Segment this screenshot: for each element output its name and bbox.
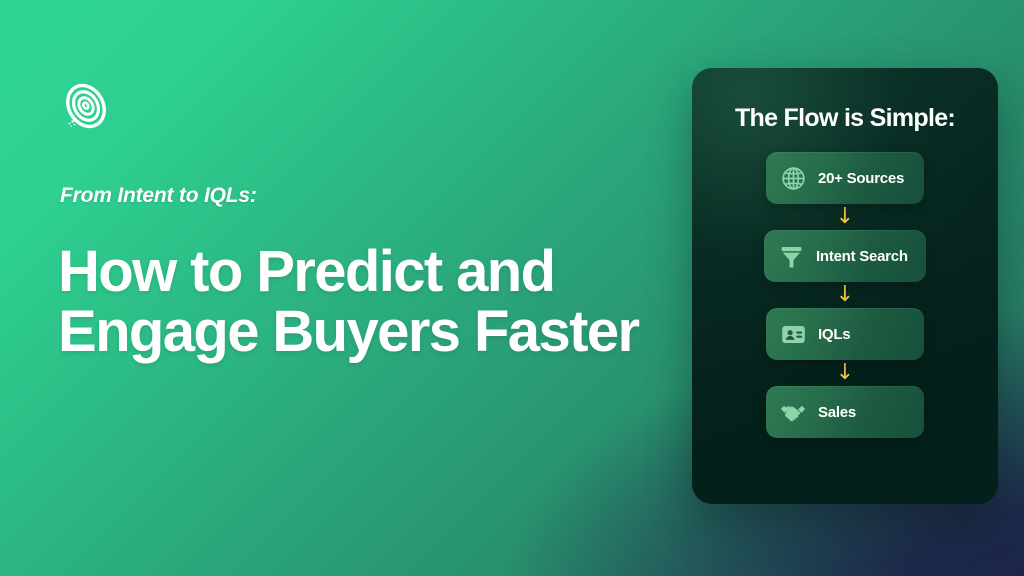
handshake-icon	[779, 398, 807, 426]
flow-arrow-3: ↓	[692, 360, 998, 386]
flow-chip-intent-search[interactable]: Intent Search	[764, 230, 926, 282]
flow-step-list: 20+ Sources ↓ Intent Search ↓	[692, 152, 998, 438]
hero-eyebrow: From Intent to IQLs:	[60, 184, 257, 208]
funnel-icon	[777, 242, 805, 270]
flow-arrow-1: ↓	[692, 204, 998, 230]
flow-step-sales: Sales	[692, 386, 998, 438]
flow-step-sources: 20+ Sources	[692, 152, 998, 204]
flow-step-label: Intent Search	[816, 248, 908, 265]
headline-line-2: Engage Buyers Faster	[58, 302, 698, 362]
globe-icon	[779, 164, 807, 192]
brand-logo-icon	[60, 80, 112, 132]
flow-arrow-2: ↓	[692, 282, 998, 308]
flow-step-iqls: IQLs	[692, 308, 998, 360]
flow-chip-sources[interactable]: 20+ Sources	[766, 152, 924, 204]
id-card-icon	[779, 320, 807, 348]
flow-step-label: 20+ Sources	[818, 170, 904, 187]
flow-step-label: IQLs	[818, 326, 850, 343]
flow-step-label: Sales	[818, 404, 856, 421]
flow-step-intent-search: Intent Search	[692, 230, 998, 282]
flow-chip-iqls[interactable]: IQLs	[766, 308, 924, 360]
flow-card-title: The Flow is Simple:	[692, 104, 998, 133]
flow-chip-sales[interactable]: Sales	[766, 386, 924, 438]
hero-left-column: From Intent to IQLs: How to Predict and …	[58, 0, 698, 576]
headline-line-1: How to Predict and	[58, 242, 698, 302]
flow-card: The Flow is Simple: 20+ Sources ↓	[692, 68, 998, 504]
page-title: How to Predict and Engage Buyers Faster	[58, 242, 698, 363]
